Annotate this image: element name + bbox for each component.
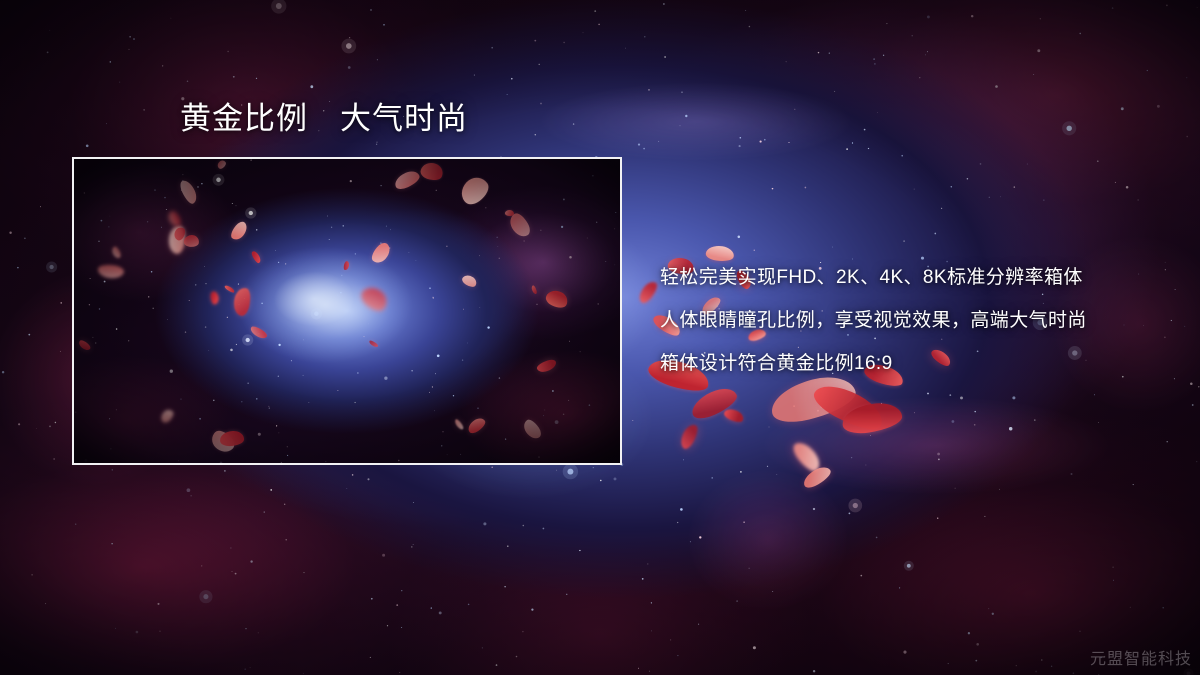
petal (800, 463, 833, 490)
petal (677, 422, 701, 451)
watermark-label: 元盟智能科技 (1090, 645, 1192, 669)
petal (790, 438, 824, 475)
body-line-2: 人体眼睛瞳孔比例，享受视觉效果，高端大气时尚 (660, 299, 1180, 342)
slide-canvas: 黄金比例 大气时尚 轻松完美实现FHD、2K、4K、8K标准分辨率箱体 人体眼睛… (0, 0, 1200, 675)
petal (723, 406, 746, 424)
petal (809, 376, 888, 437)
body-line-3: 箱体设计符合黄金比例16:9 (660, 342, 1180, 385)
petal (636, 279, 660, 305)
body-copy-block: 轻松完美实现FHD、2K、4K、8K标准分辨率箱体 人体眼睛瞳孔比例，享受视觉效… (660, 256, 1180, 385)
petal (840, 400, 903, 436)
page-title: 黄金比例 大气时尚 (180, 102, 468, 136)
body-line-1: 轻松完美实现FHD、2K、4K、8K标准分辨率箱体 (660, 256, 1180, 299)
petal (688, 383, 741, 423)
inset-vignette (74, 159, 620, 463)
framed-inset-image (72, 157, 622, 465)
